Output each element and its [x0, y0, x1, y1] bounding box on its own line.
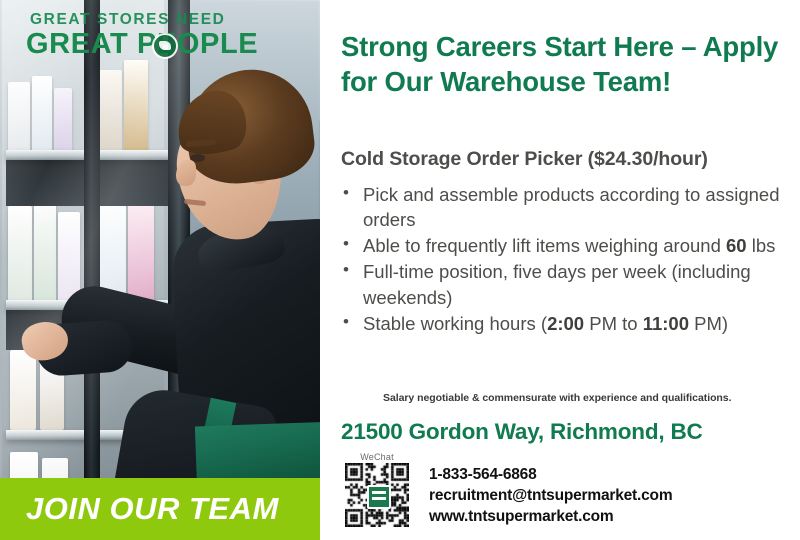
wechat-qr-block: WeChat: [341, 452, 413, 527]
page-title: Strong Careers Start Here – Apply for Ou…: [341, 30, 793, 100]
photo-scene: [0, 0, 320, 540]
requirement-item: Pick and assemble products according to …: [341, 182, 793, 232]
recruitment-poster: GREAT STORES NEED GREAT PEOPLE JOIN OUR …: [0, 0, 800, 540]
worker-figure: [0, 0, 320, 540]
overlay-line-2-label: GREAT PEOPLE: [26, 28, 258, 60]
qr-center-logo-icon: [367, 485, 391, 509]
contact-details: 1-833-564-6868 recruitment@tntsupermarke…: [429, 452, 672, 527]
phone-number[interactable]: 1-833-564-6868: [429, 464, 672, 485]
job-title: Cold Storage Order Picker ($24.30/hour): [341, 148, 793, 171]
content-panel: Strong Careers Start Here – Apply for Ou…: [320, 0, 800, 540]
overlay-line-1: GREAT STORES NEED: [30, 12, 316, 28]
requirement-item: Stable working hours (2:00 PM to 11:00 P…: [341, 311, 793, 336]
contact-row: WeChat 1-833-564-6868 recruitment@tntsup…: [341, 452, 672, 527]
join-our-team-label: JOIN OUR TEAM: [26, 491, 279, 527]
location-address: 21500 Gordon Way, Richmond, BC: [341, 419, 703, 445]
worker-nose: [176, 160, 196, 186]
photo-overlay-text: GREAT STORES NEED GREAT PEOPLE: [26, 12, 316, 59]
hero-photo: GREAT STORES NEED GREAT PEOPLE JOIN OUR …: [0, 0, 320, 540]
job-requirements-list: Pick and assemble products according to …: [341, 182, 793, 337]
overlay-line-2: GREAT PEOPLE: [26, 30, 316, 59]
tnt-logo-badge-icon: [152, 33, 178, 59]
wechat-qr-code-icon[interactable]: [345, 463, 409, 527]
wechat-label: WeChat: [341, 452, 413, 462]
salary-fine-print: Salary negotiable & commensurate with ex…: [383, 392, 800, 404]
requirement-item: Full-time position, five days per week (…: [341, 259, 793, 309]
website-url[interactable]: www.tntsupermarket.com: [429, 506, 672, 527]
email-address[interactable]: recruitment@tntsupermarket.com: [429, 485, 672, 506]
join-our-team-banner: JOIN OUR TEAM: [0, 478, 320, 540]
requirement-item: Able to frequently lift items weighing a…: [341, 233, 793, 258]
